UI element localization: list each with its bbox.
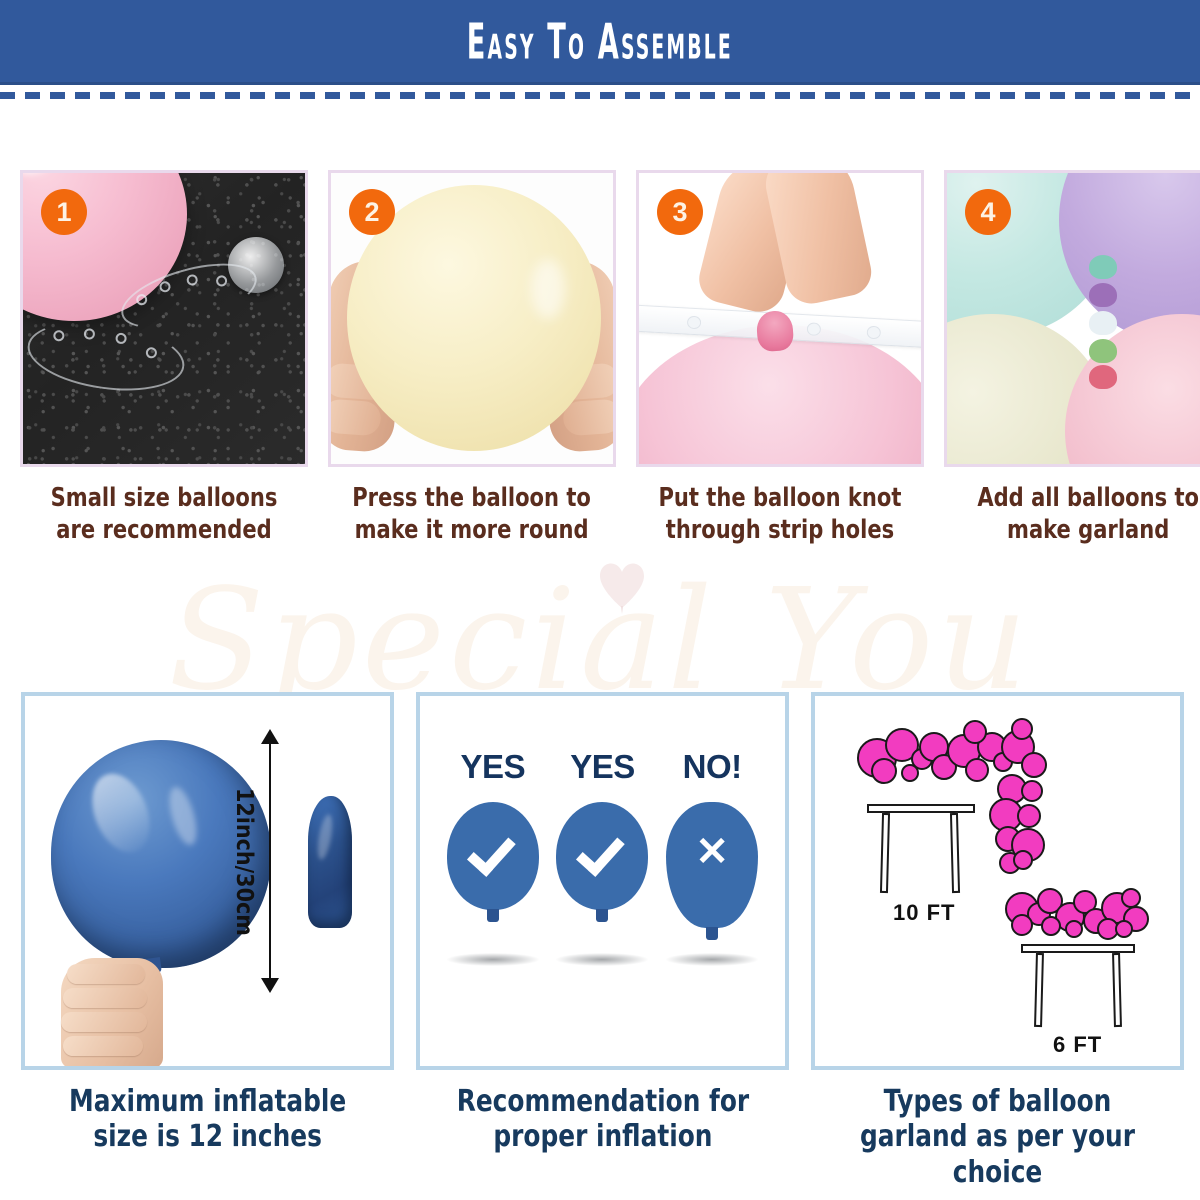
garland-6ft-label: 6 FT: [1053, 1032, 1102, 1058]
heart-balloon-icon: [592, 556, 652, 616]
knot-green: [1089, 339, 1117, 363]
dimension-label: 12inch/30cm: [231, 788, 257, 936]
inflation-option-yes-1: YES: [441, 748, 545, 910]
inflation-option-no: NO! ✕: [660, 748, 764, 928]
step-4-caption-line2: make garland: [977, 515, 1199, 547]
step-2-caption-line1: Press the balloon to: [353, 483, 592, 515]
step-2: 2 Press the balloon to make it more roun…: [328, 170, 616, 562]
balloon-round-check: [556, 802, 648, 910]
step-3-image: 3: [636, 170, 924, 467]
assembly-steps: 1 Small size balloons are recommended 2 …: [0, 170, 1200, 562]
step-3-caption-line1: Put the balloon knot: [659, 483, 902, 515]
panel-inflation-image: YES YES NO!: [416, 692, 789, 1070]
step-2-badge: 2: [349, 189, 395, 235]
panel-garland-image: 10 FT: [811, 692, 1184, 1070]
step-1-caption-line1: Small size balloons: [51, 483, 278, 515]
balloon-neck: [487, 909, 499, 922]
step-1-caption: Small size balloons are recommended: [51, 483, 278, 546]
panel-size-caption: Maximum inflatable size is 12 inches: [69, 1084, 346, 1155]
page-title: Easy To Assemble: [467, 13, 733, 70]
dimension-arrow: [269, 742, 271, 980]
knot-white: [1089, 311, 1117, 335]
step-3-caption: Put the balloon knot through strip holes: [659, 483, 902, 546]
header-rule: [0, 82, 1200, 85]
balloon-shadow: [447, 953, 539, 966]
hand-holding-balloon: [61, 958, 163, 1068]
panel-garland-caption-line1: Types of balloon: [825, 1084, 1170, 1119]
panel-inflation: YES YES NO!: [415, 692, 790, 1200]
panel-garland-caption: Types of balloon garland as per your cho…: [825, 1084, 1170, 1190]
panel-size-caption-line2: size is 12 inches: [69, 1119, 346, 1154]
panel-size-image: 12inch/30cm: [21, 692, 394, 1070]
step-4-image: 4: [944, 170, 1200, 467]
step-4: 4 Add all balloons to make garland: [944, 170, 1200, 562]
balloon-pear-cross: ✕: [666, 802, 758, 928]
info-panels: 12inch/30cm Maximum inflatable size is 1…: [0, 692, 1200, 1200]
step-2-caption-line2: make it more round: [353, 515, 592, 547]
knot-purple: [1089, 283, 1117, 307]
balloon-neck: [706, 927, 718, 940]
option-label: NO!: [683, 748, 742, 786]
step-1-badge: 1: [41, 189, 87, 235]
option-label: YES: [461, 748, 526, 786]
panel-inflation-caption: Recommendation for proper inflation: [456, 1084, 748, 1155]
step-1-caption-line2: are recommended: [51, 515, 278, 547]
header-dashed-divider: [0, 92, 1200, 99]
check-icon: [467, 827, 516, 877]
step-4-caption: Add all balloons to make garland: [977, 483, 1199, 546]
step-3-caption-line2: through strip holes: [659, 515, 902, 547]
balloon-shadow: [556, 953, 648, 966]
step-4-caption-line1: Add all balloons to: [977, 483, 1199, 515]
check-icon: [576, 827, 625, 877]
step-1-image: 1: [20, 170, 308, 467]
option-label: YES: [570, 748, 635, 786]
pink-balloon: [1065, 314, 1200, 464]
step-2-caption: Press the balloon to make it more round: [353, 483, 592, 546]
step-1: 1 Small size balloons are recommended: [20, 170, 308, 562]
panel-size-caption-line1: Maximum inflatable: [69, 1084, 346, 1119]
balloon-neck: [596, 909, 608, 922]
panel-inflation-caption-line2: proper inflation: [456, 1119, 748, 1154]
deflated-blue-balloon: [308, 796, 352, 928]
garland-10ft-label: 10 FT: [893, 900, 955, 926]
step-3-badge: 3: [657, 189, 703, 235]
panel-garland-types: 10 FT: [810, 692, 1185, 1200]
step-4-badge: 4: [965, 189, 1011, 235]
panel-garland-caption-line2: garland as per your choice: [825, 1119, 1170, 1190]
inflation-option-yes-2: YES: [550, 748, 654, 910]
page-header: Easy To Assemble: [0, 0, 1200, 82]
step-3: 3 Put the balloon knot through strip hol…: [636, 170, 924, 562]
balloon-round-check: [447, 802, 539, 910]
knot-red: [1089, 365, 1117, 389]
panel-inflation-caption-line1: Recommendation for: [456, 1084, 748, 1119]
cross-icon: ✕: [695, 832, 729, 872]
balloon-shadow: [666, 953, 758, 966]
inflation-options: YES YES NO!: [420, 696, 785, 1066]
step-2-image: 2: [328, 170, 616, 467]
panel-size: 12inch/30cm Maximum inflatable size is 1…: [20, 692, 395, 1200]
knot-teal: [1089, 255, 1117, 279]
